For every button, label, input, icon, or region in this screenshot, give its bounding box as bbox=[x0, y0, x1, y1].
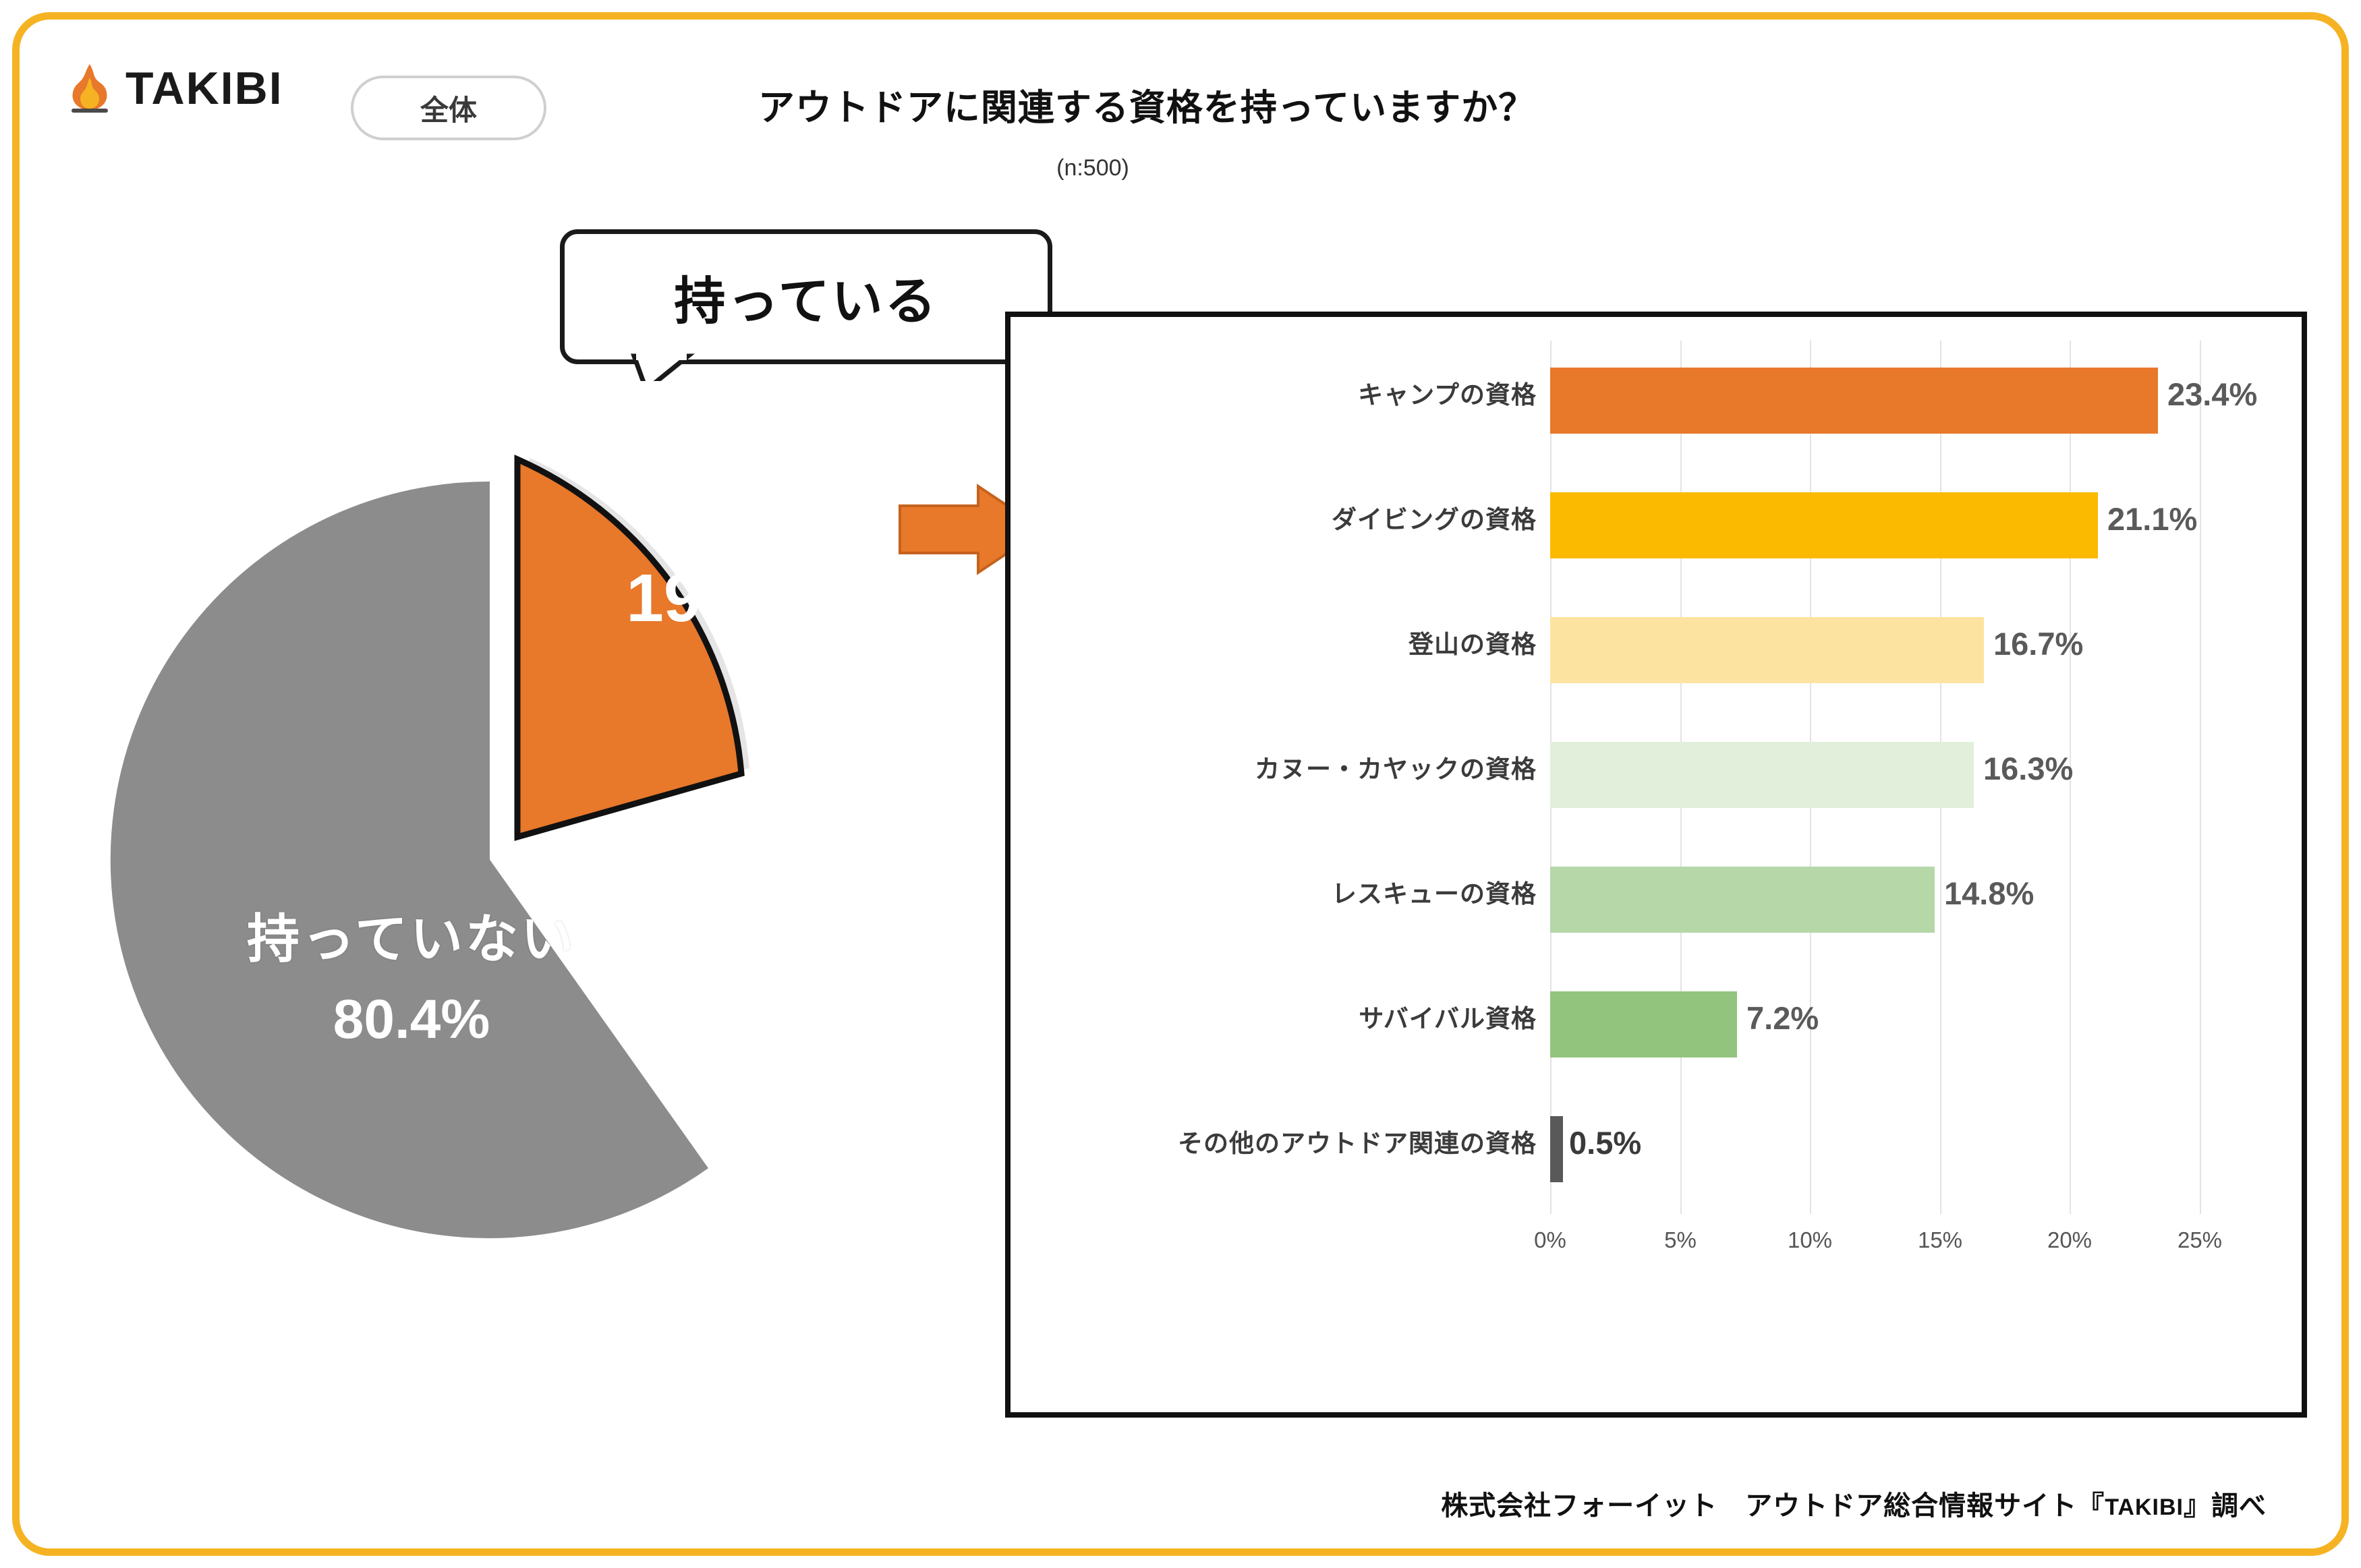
bar-rect[interactable] bbox=[1550, 867, 1935, 933]
x-axis-tick: 10% bbox=[1788, 1227, 1832, 1253]
footer-text-before: 株式会社フォーイット アウトドア総合情報サイト『 bbox=[1441, 1491, 2105, 1521]
footer-text-after: 』調べ bbox=[2184, 1491, 2267, 1521]
bar-rect[interactable] bbox=[1550, 368, 2158, 434]
bar-category-label: カヌー・カヤックの資格 bbox=[1024, 749, 1537, 785]
bar-value-label: 7.2% bbox=[1746, 999, 1819, 1037]
bar-chart-panel: キャンプの資格 23.4% ダイビングの資格 21.1% 登山の資格 16.7%… bbox=[1005, 312, 2307, 1418]
callout-bubble: 持っている bbox=[560, 229, 1052, 381]
x-axis-tick: 15% bbox=[1918, 1227, 1962, 1253]
bar-row: サバイバル資格 7.2% bbox=[1011, 964, 2302, 1089]
sample-size-label: (n:500) bbox=[958, 155, 1228, 181]
brand-logo[interactable]: TAKIBI bbox=[67, 62, 283, 115]
bar-row: ダイビングの資格 21.1% bbox=[1011, 465, 2302, 590]
bar-row: カヌー・カヤックの資格 16.3% bbox=[1011, 715, 2302, 840]
footer-brand: TAKIBI bbox=[2105, 1494, 2184, 1520]
bar-value-label: 16.3% bbox=[1983, 750, 2073, 787]
x-axis-tick: 25% bbox=[2178, 1227, 2222, 1253]
pie-slice-label-no: 持っていない bbox=[108, 897, 715, 972]
bar-category-label: キャンプの資格 bbox=[1024, 374, 1537, 411]
segment-pill-label: 全体 bbox=[420, 88, 477, 129]
page-title: アウトドアに関連する資格を持っていますか？ bbox=[472, 78, 1821, 131]
bar-row: レスキューの資格 14.8% bbox=[1011, 840, 2302, 964]
bar-row: その他のアウトドア関連の資格 0.5% bbox=[1011, 1089, 2302, 1214]
bar-category-label: ダイビングの資格 bbox=[1024, 499, 1537, 535]
bar-value-label: 0.5% bbox=[1569, 1124, 1641, 1161]
bar-rect[interactable] bbox=[1550, 742, 1974, 808]
x-axis-tick: 5% bbox=[1664, 1227, 1697, 1253]
flame-icon bbox=[67, 63, 112, 114]
footer-credit: 株式会社フォーイット アウトドア総合情報サイト『TAKIBI』調べ bbox=[1147, 1484, 2267, 1523]
bar-value-label: 16.7% bbox=[1993, 625, 2083, 662]
bar-category-label: 登山の資格 bbox=[1024, 624, 1537, 660]
bar-rect[interactable] bbox=[1550, 492, 2098, 558]
bar-category-label: その他のアウトドア関連の資格 bbox=[1024, 1123, 1537, 1159]
bar-value-label: 21.1% bbox=[2107, 500, 2197, 538]
bar-rect[interactable] bbox=[1550, 617, 1984, 683]
x-axis-tick: 0% bbox=[1534, 1227, 1566, 1253]
callout-tail-icon bbox=[560, 229, 1052, 381]
bar-value-label: 23.4% bbox=[2167, 376, 2257, 413]
bar-row: 登山の資格 16.7% bbox=[1011, 590, 2302, 715]
pie-slice-value-yes: 19.6% bbox=[533, 560, 911, 637]
bar-chart: キャンプの資格 23.4% ダイビングの資格 21.1% 登山の資格 16.7%… bbox=[1011, 317, 2302, 1412]
pie-slice-value-no: 80.4% bbox=[108, 988, 715, 1051]
bar-category-label: レスキューの資格 bbox=[1024, 873, 1537, 910]
bar-rect[interactable] bbox=[1550, 991, 1737, 1057]
bar-row: キャンプの資格 23.4% bbox=[1011, 341, 2302, 465]
x-axis-tick: 20% bbox=[2047, 1227, 2092, 1253]
bar-rect[interactable] bbox=[1550, 1116, 1563, 1182]
bar-category-label: サバイバル資格 bbox=[1024, 998, 1537, 1035]
brand-wordmark: TAKIBI bbox=[125, 62, 283, 115]
bar-value-label: 14.8% bbox=[1944, 875, 2034, 912]
pie-chart bbox=[57, 388, 988, 1325]
slide-canvas: TAKIBI 全体 アウトドアに関連する資格を持っていますか？ (n:500) … bbox=[0, 0, 2361, 1568]
